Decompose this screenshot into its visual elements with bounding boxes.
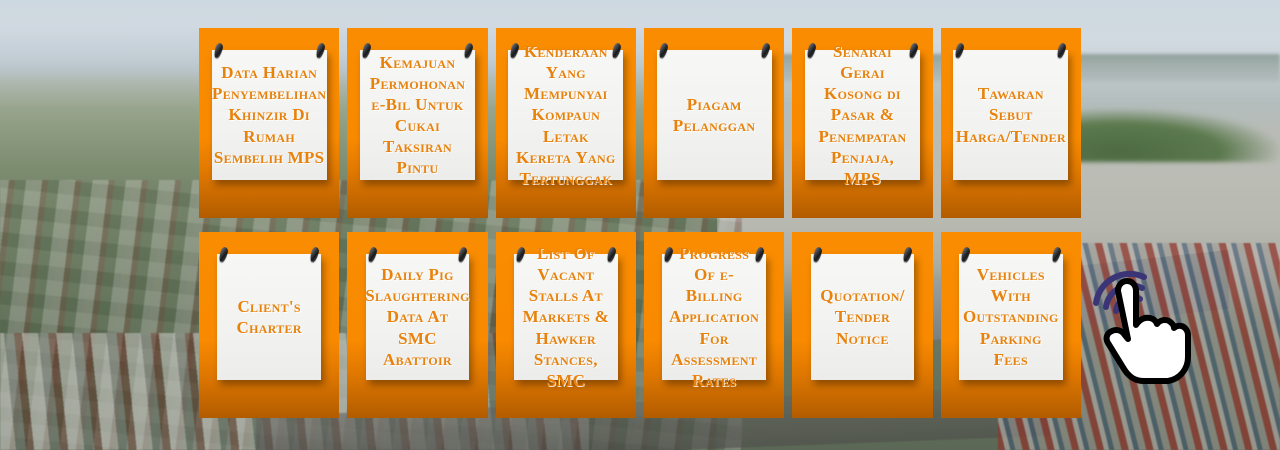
note-card[interactable]: Piagam Pelanggan: [657, 50, 772, 180]
tile-tawaran-sebut-harga[interactable]: Tawaran Sebut Harga/Tender: [941, 28, 1081, 218]
tile-label: Senarai Gerai Kosong di Pasar & Penempat…: [811, 41, 914, 189]
tile-list-of-vacant-stalls[interactable]: List Of Vacant Stalls At Markets & Hawke…: [496, 232, 636, 418]
tile-label: Piagam Pelanggan: [663, 94, 766, 136]
note-card[interactable]: Client's Charter: [217, 254, 321, 380]
pin-icon: [658, 42, 669, 58]
pin-icon: [954, 42, 965, 58]
tile-daily-pig-slaughtering[interactable]: Daily Pig Slaughtering Data At SMC Abatt…: [347, 232, 487, 418]
tile-label: Quotation/ Tender Notice: [817, 285, 909, 348]
note-card[interactable]: Progress Of e-Billing Application For As…: [662, 254, 766, 380]
tile-label: Progress Of e-Billing Application For As…: [668, 243, 760, 391]
tile-label: Kemajuan Permohonan e-Bil Untuk Cukai Ta…: [366, 52, 469, 178]
tile-kemajuan-permohonan-ebil[interactable]: Kemajuan Permohonan e-Bil Untuk Cukai Ta…: [347, 28, 487, 218]
note-card[interactable]: Tawaran Sebut Harga/Tender: [953, 50, 1068, 180]
pin-icon: [812, 246, 823, 262]
tile-row-top: Data Harian Penyembelihan Khinzir Di Rum…: [199, 28, 1081, 218]
tile-label: Client's Charter: [223, 296, 315, 338]
note-card[interactable]: Daily Pig Slaughtering Data At SMC Abatt…: [366, 254, 470, 380]
tile-label: Kenderaan Yang Mempunyai Kompaun Letak K…: [514, 41, 617, 189]
note-card[interactable]: Kenderaan Yang Mempunyai Kompaun Letak K…: [508, 50, 623, 180]
tile-clients-charter[interactable]: Client's Charter: [199, 232, 339, 418]
note-card[interactable]: Kemajuan Permohonan e-Bil Untuk Cukai Ta…: [360, 50, 475, 180]
note-card[interactable]: Data Harian Penyembelihan Khinzir Di Rum…: [212, 50, 327, 180]
pin-icon: [309, 246, 320, 262]
note-card[interactable]: List Of Vacant Stalls At Markets & Hawke…: [514, 254, 618, 380]
pin-icon: [213, 42, 224, 58]
page-root: Data Harian Penyembelihan Khinzir Di Rum…: [0, 0, 1280, 450]
pin-icon: [218, 246, 229, 262]
pin-icon: [960, 246, 971, 262]
tile-data-harian-penyembelihan[interactable]: Data Harian Penyembelihan Khinzir Di Rum…: [199, 28, 339, 218]
pin-icon: [315, 42, 326, 58]
tile-senarai-gerai-kosong[interactable]: Senarai Gerai Kosong di Pasar & Penempat…: [792, 28, 932, 218]
tile-piagam-pelanggan[interactable]: Piagam Pelanggan: [644, 28, 784, 218]
pin-icon: [1051, 246, 1062, 262]
tile-label: Vehicles With Outstanding Parking Fees: [963, 264, 1059, 369]
tile-quotation-tender-notice[interactable]: Quotation/ Tender Notice: [792, 232, 932, 418]
note-card[interactable]: Vehicles With Outstanding Parking Fees: [959, 254, 1063, 380]
pin-icon: [902, 246, 913, 262]
pin-icon: [463, 42, 474, 58]
note-card[interactable]: Senarai Gerai Kosong di Pasar & Penempat…: [805, 50, 920, 180]
tile-progress-of-ebilling[interactable]: Progress Of e-Billing Application For As…: [644, 232, 784, 418]
tile-label: Daily Pig Slaughtering Data At SMC Abatt…: [365, 264, 469, 369]
pin-icon: [1056, 42, 1067, 58]
pin-icon: [760, 42, 771, 58]
tile-label: List Of Vacant Stalls At Markets & Hawke…: [520, 243, 612, 391]
tile-vehicles-outstanding-parking-fees[interactable]: Vehicles With Outstanding Parking Fees: [941, 232, 1081, 418]
tile-row-bottom: Client's CharterDaily Pig Slaughtering D…: [199, 232, 1081, 418]
tile-kenderaan-kompaun-letak-kereta[interactable]: Kenderaan Yang Mempunyai Kompaun Letak K…: [496, 28, 636, 218]
tile-label: Tawaran Sebut Harga/Tender: [956, 83, 1066, 146]
note-card[interactable]: Quotation/ Tender Notice: [811, 254, 915, 380]
tile-label: Data Harian Penyembelihan Khinzir Di Rum…: [212, 62, 326, 167]
pin-icon: [457, 246, 468, 262]
pin-icon: [367, 246, 378, 262]
